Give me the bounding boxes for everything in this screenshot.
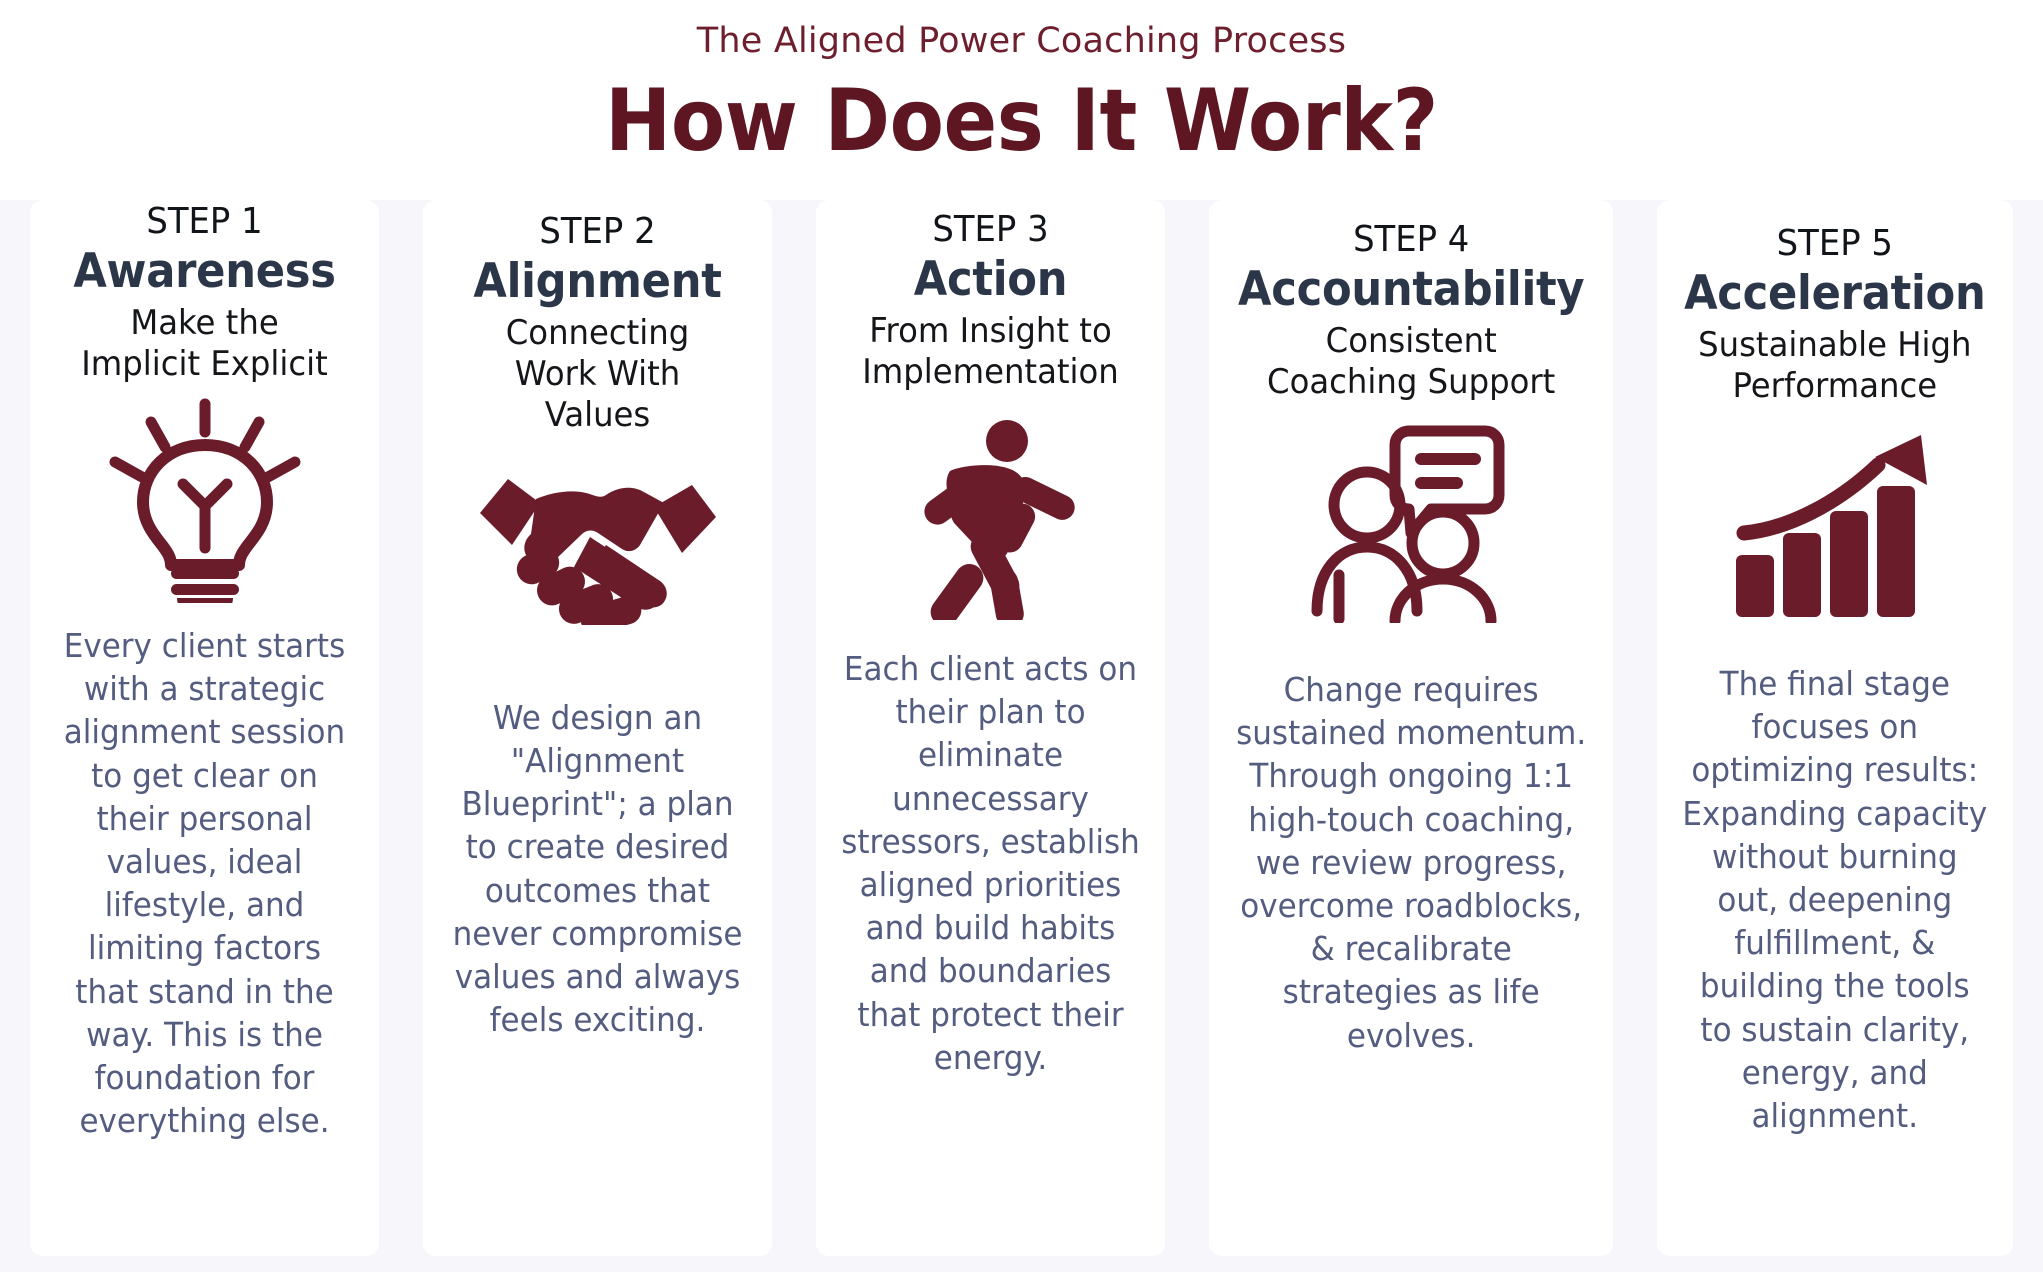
step-label: STEP 2 <box>447 210 749 254</box>
step-body: Change requires sustained momentum. Thro… <box>1234 668 1588 1057</box>
step-label: STEP 5 <box>1681 222 1989 266</box>
step-name: Accountability <box>1238 262 1584 317</box>
step-subtitle: From Insight to Implementation <box>838 311 1143 393</box>
step-name: Alignment <box>450 254 745 309</box>
step-card-awareness: STEP 1 Awareness Make the Implicit Expli… <box>30 200 379 1256</box>
step-heading: STEP 3 Action From Insight to Implementa… <box>830 200 1151 393</box>
step-heading: STEP 4 Accountability Consistent Coachin… <box>1223 200 1599 403</box>
handshake-icon <box>437 450 758 650</box>
step-name: Action <box>843 252 1138 307</box>
step-heading: STEP 5 Acceleration Sustainable High Per… <box>1671 200 1999 407</box>
step-name: Acceleration <box>1685 266 1986 321</box>
step-subtitle: Connecting Work With Values <box>445 313 750 435</box>
step-label: STEP 1 <box>54 200 356 244</box>
step-label: STEP 3 <box>840 208 1142 252</box>
step-label: STEP 4 <box>1234 218 1588 262</box>
infographic-page: The Aligned Power Coaching Process How D… <box>0 0 2043 1272</box>
step-subtitle: Make the Implicit Explicit <box>52 303 357 385</box>
step-heading: STEP 2 Alignment Connecting Work With Va… <box>437 200 758 436</box>
step-card-alignment: STEP 2 Alignment Connecting Work With Va… <box>423 200 772 1256</box>
step-body: We design an "Alignment Blueprint"; a pl… <box>447 696 749 1042</box>
growth-chart-icon <box>1671 423 1999 628</box>
step-card-acceleration: STEP 5 Acceleration Sustainable High Per… <box>1657 200 2013 1256</box>
eyebrow-text: The Aligned Power Coaching Process <box>0 22 2043 61</box>
step-subtitle: Sustainable High Performance <box>1680 325 1991 407</box>
step-body: Each client acts on their plan to elimin… <box>840 647 1142 1079</box>
step-body: The final stage focuses on optimizing re… <box>1681 662 1989 1137</box>
step-body: Every client starts with a strategic ali… <box>54 624 356 1143</box>
people-speech-bubble-icon <box>1223 421 1599 626</box>
steps-row: STEP 1 Awareness Make the Implicit Expli… <box>0 200 2043 1272</box>
page-title: How Does It Work? <box>82 69 1962 174</box>
step-card-action: STEP 3 Action From Insight to Implementa… <box>816 200 1165 1256</box>
step-name: Awareness <box>57 244 352 299</box>
lightbulb-icon <box>44 393 365 608</box>
header: The Aligned Power Coaching Process How D… <box>0 0 2043 173</box>
step-subtitle: Consistent Coaching Support <box>1232 321 1590 403</box>
running-person-icon <box>830 415 1151 625</box>
step-card-accountability: STEP 4 Accountability Consistent Coachin… <box>1209 200 1613 1256</box>
step-heading: STEP 1 Awareness Make the Implicit Expli… <box>44 200 365 385</box>
